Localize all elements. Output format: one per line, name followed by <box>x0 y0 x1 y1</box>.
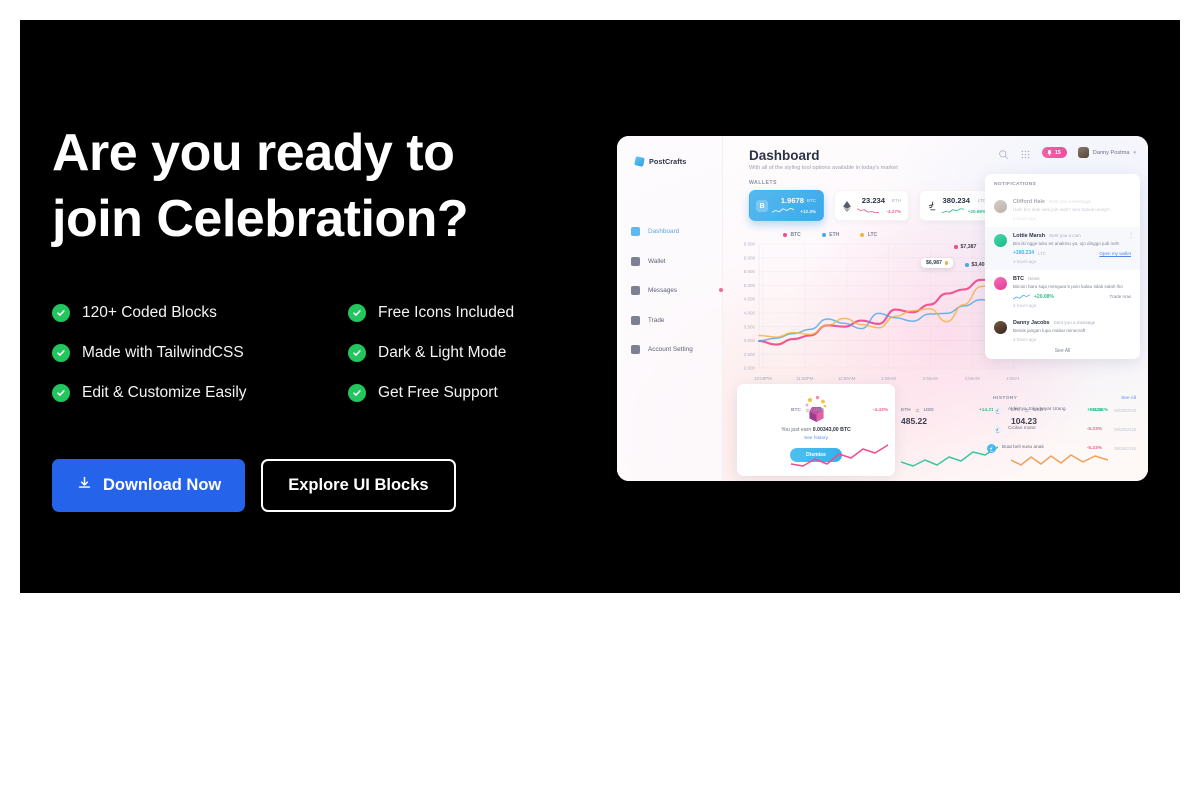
feature-label: Made with TailwindCSS <box>82 344 244 362</box>
open-my-wallet-link[interactable]: Open my wallet <box>1099 251 1131 256</box>
notification-sparkline <box>1013 294 1030 300</box>
avatar <box>994 234 1007 247</box>
svg-text:5.500: 5.500 <box>744 269 756 274</box>
svg-text:4.000: 4.000 <box>744 310 756 315</box>
history-percent: -5.23% <box>1087 446 1102 451</box>
cta-row: Download Now Explore UI Blocks <box>52 459 572 512</box>
notification-action: News <box>1028 276 1040 281</box>
history-date: 08/28/2018 <box>1108 427 1136 432</box>
notification-name: Danny Jacobs <box>1013 320 1050 326</box>
feature-label: Dark & Light Mode <box>378 344 506 362</box>
wallet-amount: 380.234 <box>943 196 970 205</box>
history-label: Cicilan motor <box>1008 426 1081 432</box>
logo-mark-icon <box>634 156 645 167</box>
wallet-sparkline <box>857 207 879 214</box>
notification-action: Sent you a message <box>1049 199 1091 204</box>
swap-icon <box>805 408 810 413</box>
history-date: 08/28/2018 <box>1108 446 1136 451</box>
stat-value: 485.22 <box>901 416 998 426</box>
page-title: Are you ready to join Celebration? <box>52 120 552 252</box>
legend-swatch-icon <box>860 233 864 237</box>
svg-text:6.000: 6.000 <box>744 255 756 260</box>
notifications-panel: NOTIFICATIONS Clifford Hale Sent you a m… <box>985 174 1140 359</box>
user-name: Danny Postma <box>1093 150 1130 156</box>
svg-text:3:59AM: 3:59AM <box>964 376 979 381</box>
history-row[interactable]: Akhirnya Joko bayar Utang +0.823 08/28/2… <box>985 401 1140 420</box>
notification-action: Sent you a message <box>1054 320 1096 325</box>
stat-card-btc[interactable]: BTC USD -4.43% <box>791 408 888 474</box>
notification-time: 3 hours ago <box>1013 337 1131 342</box>
wallet-amount: 1.9678 <box>781 196 804 205</box>
history-label: Buat beli susu anak <box>1002 445 1081 451</box>
svg-text:12:59AM: 12:59AM <box>838 376 856 381</box>
wallet-sparkline <box>772 207 794 214</box>
wallet-icon <box>631 257 640 266</box>
sidebar-item-label: Wallet <box>648 258 666 265</box>
notification-message: Bitcoin baru saja menguat 5 poin kalau t… <box>1013 284 1131 290</box>
annotation-swatch-icon <box>954 245 958 249</box>
chart-series-ltc <box>759 278 1015 337</box>
history-row[interactable]: Buat beli susu anak -5.23% 08/28/2018 <box>985 439 1140 458</box>
chart-annotation-ltc: $6,987 <box>921 258 953 268</box>
stat-pair-base: BTC <box>791 408 801 413</box>
sidebar-item-label: Account Setting <box>648 346 693 353</box>
download-now-label: Download Now <box>103 476 221 495</box>
notification-item[interactable]: Danny Jacobs Sent you a message Besok ja… <box>985 314 1140 348</box>
svg-text:1:59AM: 1:59AM <box>881 376 896 381</box>
history-panel: HISTORY See All Akhirnya Joko bayar Utan… <box>985 396 1140 476</box>
notification-item[interactable]: BTC News Bitcoin baru saja menguat 5 poi… <box>985 270 1140 313</box>
wallet-symbol-icon: B <box>756 200 768 212</box>
search-icon[interactable] <box>998 147 1009 158</box>
history-row[interactable]: Cicilan motor -5.23% 08/28/2018 <box>985 420 1140 439</box>
sidebar-item-messages[interactable]: Messages <box>631 283 723 298</box>
feature-list: 120+ Coded Blocks Free Icons Included Ma… <box>52 304 572 402</box>
notifications-list: Clifford Hale Sent you a message Halo br… <box>985 193 1140 348</box>
wallet-sparkline <box>942 207 964 214</box>
svg-text:3.000: 3.000 <box>744 338 756 343</box>
trade-icon <box>631 316 640 325</box>
annotation-swatch-icon <box>945 261 949 265</box>
coin-icon <box>993 425 1002 434</box>
svg-text:6.500: 6.500 <box>744 242 756 247</box>
stat-change: -4.43% <box>873 408 888 413</box>
grid-apps-icon[interactable] <box>1020 147 1031 158</box>
see-all-notifications-link[interactable]: See All <box>985 348 1140 354</box>
svg-text:4:59AM: 4:59AM <box>1006 376 1019 381</box>
feature-label: Get Free Support <box>378 384 498 402</box>
explore-ui-blocks-button[interactable]: Explore UI Blocks <box>261 459 455 512</box>
sidebar-item-label: Messages <box>648 287 677 294</box>
messages-icon <box>631 286 640 295</box>
dashboard-nav: Dashboard Wallet Messages <box>631 224 723 372</box>
history-date: 08/28/2018 <box>1108 408 1136 413</box>
brand-logo[interactable]: PostCrafts <box>635 157 686 166</box>
avatar <box>994 200 1007 213</box>
check-circle-icon <box>348 344 366 362</box>
notification-unit: LTC <box>1038 251 1046 256</box>
user-menu[interactable]: Danny Postma ▾ <box>1078 147 1136 158</box>
brand-name: PostCrafts <box>649 157 686 166</box>
legend-swatch-icon <box>783 233 787 237</box>
wallet-cards: B 1.9678 BTC +12.3% 23.234 ETH <box>749 190 994 221</box>
feature-item: Dark & Light Mode <box>348 344 572 362</box>
dashboard-preview: PostCrafts Dashboard Wallet <box>617 136 1148 481</box>
stat-pair-base: ETH <box>901 408 911 413</box>
feature-item: 120+ Coded Blocks <box>52 304 348 322</box>
sidebar-item-dashboard[interactable]: Dashboard <box>631 224 723 239</box>
notifications-title: NOTIFICATIONS <box>994 182 1036 187</box>
sidebar-item-label: Trade <box>648 317 664 324</box>
sidebar-item-trade[interactable]: Trade <box>631 313 723 328</box>
check-circle-icon <box>348 384 366 402</box>
wallets-section-label: WALLETS <box>749 180 777 186</box>
svg-text:2.000: 2.000 <box>744 366 756 371</box>
stat-pair-quote: USD <box>814 408 824 413</box>
coin-icon <box>987 444 996 453</box>
history-percent: +0.823 <box>1087 408 1102 413</box>
svg-text:2:59AM: 2:59AM <box>923 376 938 381</box>
annotation-swatch-icon <box>965 263 969 267</box>
wallet-symbol-icon <box>926 200 938 212</box>
chevron-down-icon: ▾ <box>1133 150 1136 156</box>
feature-label: Edit & Customize Easily <box>82 384 247 402</box>
svg-text:10:59PM: 10:59PM <box>754 376 772 381</box>
dashboard-icon <box>631 227 640 236</box>
chart-annotation-eth: $3,40 <box>965 262 984 268</box>
annotation-label: $3,40 <box>972 262 985 268</box>
notification-time: 3 hours ago <box>1013 303 1131 308</box>
stat-sparkline <box>791 440 888 472</box>
svg-text:4.500: 4.500 <box>744 297 756 302</box>
avatar <box>1078 147 1089 158</box>
check-circle-icon <box>52 344 70 362</box>
swap-icon <box>915 408 920 413</box>
wallet-card-ltc[interactable]: 380.234 LTC +20.98% <box>919 190 994 221</box>
check-circle-icon <box>52 304 70 322</box>
avatar <box>994 321 1007 334</box>
sidebar-item-label: Dashboard <box>648 228 679 235</box>
history-title: HISTORY <box>993 396 1017 401</box>
notification-count: 15 <box>1055 150 1061 156</box>
dashboard-title: Dashboard <box>749 148 820 163</box>
notification-amount: +20.08% <box>1034 294 1054 300</box>
notification-message: Besok jangan lupa mabar minecraft <box>1013 328 1131 334</box>
wallet-change: +20.98% <box>968 209 986 214</box>
wallet-symbol-icon <box>841 200 853 212</box>
wallet-change: -4.27% <box>886 209 901 214</box>
chart-series-eth <box>759 300 1015 341</box>
feature-label: 120+ Coded Blocks <box>82 304 217 322</box>
feature-item: Free Icons Included <box>348 304 572 322</box>
notification-item[interactable]: Lottie Marsh Sent you a coin Bro iki ngg… <box>985 227 1140 270</box>
feature-item: Made with TailwindCSS <box>52 344 348 362</box>
notification-message: Halo bro arek wes join wah? wes bubuk ur… <box>1013 207 1131 213</box>
download-icon <box>76 475 93 497</box>
wallet-change: +12.3% <box>800 209 816 214</box>
notification-amount: +380.234 <box>1013 250 1034 256</box>
check-circle-icon <box>348 304 366 322</box>
notification-name: BTC <box>1013 276 1024 282</box>
avatar <box>994 277 1007 290</box>
account-setting-icon <box>631 345 640 354</box>
notification-time: 2 hours ago <box>1013 216 1131 221</box>
dashboard-app: PostCrafts Dashboard Wallet <box>617 136 1148 481</box>
chart-canvas: 2.0002.5003.0003.5004.0004.5005.0005.500… <box>737 238 1019 384</box>
notification-name: Lottie Marsh <box>1013 233 1045 239</box>
annotation-label: $6,987 <box>926 260 942 266</box>
history-label: Akhirnya Joko bayar Utang <box>1008 407 1081 413</box>
wallet-card-btc[interactable]: B 1.9678 BTC +12.3% <box>749 190 824 221</box>
download-now-button[interactable]: Download Now <box>52 459 245 512</box>
notification-badge[interactable]: 15 <box>1042 147 1067 158</box>
feature-label: Free Icons Included <box>378 304 514 322</box>
wallet-currency: ETH <box>892 198 901 203</box>
dashboard-subtitle: With all of the styling tool options ava… <box>749 165 898 171</box>
dashboard-header-actions: 15 Danny Postma ▾ <box>998 147 1136 158</box>
svg-text:11:59PM: 11:59PM <box>796 376 814 381</box>
feature-item: Edit & Customize Easily <box>52 384 348 402</box>
hero-content: Are you ready to join Celebration? 120+ … <box>52 120 572 512</box>
chart-annotation-btc: $7,387 <box>954 244 976 250</box>
legend-swatch-icon <box>822 233 826 237</box>
stat-pair-quote: USD <box>924 408 934 413</box>
history-percent: -5.23% <box>1087 427 1102 432</box>
notification-time: 3 hours ago <box>1013 259 1131 264</box>
notification-item[interactable]: Clifford Hale Sent you a message Halo br… <box>985 193 1140 227</box>
stat-sparkline <box>901 444 998 472</box>
notification-action: Sent you a coin <box>1049 233 1081 238</box>
svg-text:5.000: 5.000 <box>744 283 756 288</box>
price-chart: BTC ETH LTC 2.0002.5003.0003.5004 <box>737 232 1019 384</box>
sidebar-item-wallet[interactable]: Wallet <box>631 254 723 269</box>
wallet-amount: 23.234 <box>862 196 885 205</box>
wallet-currency: BTC <box>807 198 816 203</box>
sidebar-item-account-setting[interactable]: Account Setting <box>631 342 723 357</box>
annotation-label: $7,387 <box>961 244 977 250</box>
see-all-history-link[interactable]: See All <box>1121 396 1136 401</box>
more-options-icon[interactable]: ⋮ <box>1128 235 1134 239</box>
trade-now-link[interactable]: Trade now <box>1109 294 1131 299</box>
wallet-card-eth[interactable]: 23.234 ETH -4.27% <box>834 190 909 221</box>
explore-ui-blocks-label: Explore UI Blocks <box>288 476 428 495</box>
check-circle-icon <box>52 384 70 402</box>
svg-text:3.500: 3.500 <box>744 324 756 329</box>
stat-card-eth[interactable]: ETH USD +14.21% 485.22 <box>901 408 998 474</box>
hero-section: Are you ready to join Celebration? 120+ … <box>20 20 1180 593</box>
notification-message: Bro iki ngge tuku es anakmu ya, ojo ding… <box>1013 241 1131 247</box>
svg-text:2.500: 2.500 <box>744 352 756 357</box>
feature-item: Get Free Support <box>348 384 572 402</box>
coin-icon <box>993 406 1002 415</box>
dashboard-main: Dashboard With all of the styling tool o… <box>723 136 1148 481</box>
notification-name: Clifford Hale <box>1013 199 1045 205</box>
dashboard-sidebar: PostCrafts Dashboard Wallet <box>617 136 723 481</box>
